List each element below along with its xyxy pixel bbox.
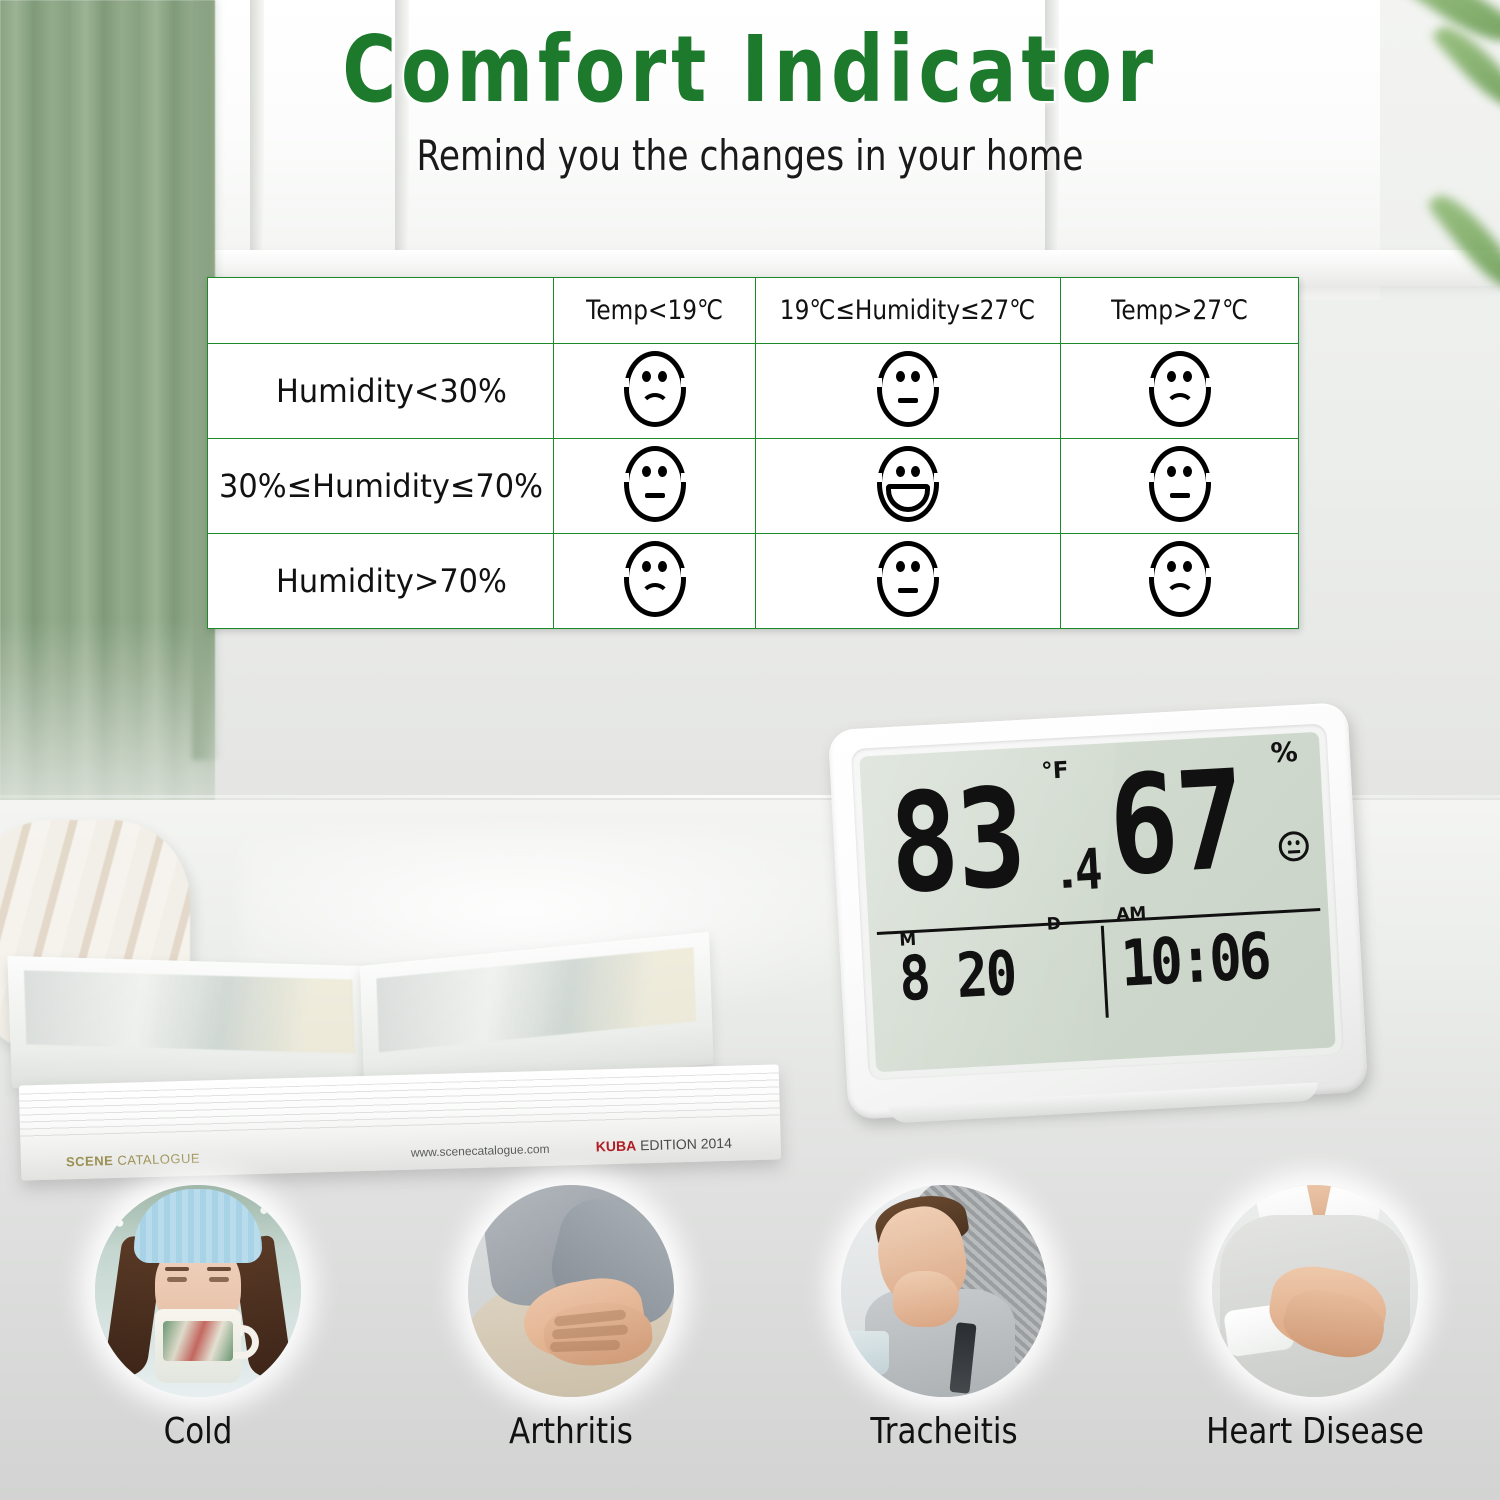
temperature-decimal: 4 — [1073, 836, 1104, 903]
cell-neutral-face — [756, 534, 1061, 629]
tracheitis-photo — [841, 1185, 1047, 1397]
neutral-face-icon — [877, 351, 939, 427]
arthritis-photo — [468, 1185, 674, 1397]
happy-face-icon — [877, 446, 939, 522]
magazine-url: www.scenecatalogue.com — [411, 1142, 550, 1160]
condition-item-tracheitis: Tracheitis — [784, 1185, 1104, 1452]
cell-sad-face — [554, 344, 756, 439]
magazine-photo — [376, 947, 696, 1052]
neutral-face-icon — [877, 541, 939, 617]
heart-disease-photo — [1212, 1185, 1418, 1397]
neutral-face-icon — [1278, 831, 1310, 863]
health-conditions-row: Cold Arthritis — [0, 1185, 1500, 1500]
cell-neutral-face — [1061, 439, 1299, 534]
cell-happy-face — [756, 439, 1061, 534]
date-display: 820 — [898, 939, 1017, 1005]
magazine-photo — [24, 970, 355, 1053]
sad-face-icon — [624, 351, 686, 427]
magazine-edition: KUBA EDITION 2014 — [596, 1135, 733, 1155]
row-header-humidity-high: Humidity>70% — [216, 534, 545, 629]
cell-neutral-face — [756, 344, 1061, 439]
time-display: 10:06 — [1119, 919, 1270, 1001]
table-row: 30%≤Humidity≤70% — [208, 439, 1299, 534]
column-header-temp-high: Temp>27℃ — [1061, 278, 1299, 344]
product-infographic: Comfort Indicator Remind you the changes… — [0, 0, 1500, 1500]
column-header-temp-mid: 19℃≤Humidity≤27℃ — [756, 278, 1061, 344]
row-header-humidity-mid: 30%≤Humidity≤70% — [216, 439, 545, 534]
magazine-page-edges — [19, 1072, 780, 1141]
day-label: D — [1046, 914, 1061, 935]
neutral-face-icon — [1149, 446, 1211, 522]
temperature-unit-label: °F — [1041, 757, 1070, 784]
day-value: 20 — [955, 939, 1017, 1013]
digital-thermometer-hygrometer: 83 °F 4 67 % M D 820 AM 10:06 — [828, 702, 1368, 1120]
table-row: Humidity>70% — [208, 534, 1299, 629]
cell-neutral-face — [554, 439, 756, 534]
condition-caption: Heart Disease — [1177, 1411, 1452, 1452]
month-value: 8 — [898, 943, 933, 1015]
table-header-row: Temp<19℃ 19℃≤Humidity≤27℃ Temp>27℃ — [208, 278, 1299, 344]
comfort-indicator-table: Temp<19℃ 19℃≤Humidity≤27℃ Temp>27℃ Humid… — [207, 277, 1298, 628]
page-subtitle: Remind you the changes in your home — [135, 131, 1365, 180]
sad-face-icon — [1149, 351, 1211, 427]
sad-face-icon — [1149, 541, 1211, 617]
temperature-value: 83 — [886, 770, 1027, 914]
lcd-divider-vertical — [1101, 926, 1108, 1018]
sad-face-icon — [624, 541, 686, 617]
table-row: Humidity<30% — [208, 344, 1299, 439]
condition-caption: Arthritis — [433, 1411, 708, 1452]
cell-sad-face — [1061, 344, 1299, 439]
cell-sad-face — [1061, 534, 1299, 629]
condition-caption: Cold — [60, 1411, 335, 1452]
condition-caption: Tracheitis — [806, 1411, 1081, 1452]
neutral-face-icon — [624, 446, 686, 522]
cell-sad-face — [554, 534, 756, 629]
column-header-temp-low: Temp<19℃ — [554, 278, 756, 344]
condition-item-cold: Cold — [38, 1185, 358, 1452]
humidity-unit-label: % — [1270, 737, 1299, 769]
row-header-humidity-low: Humidity<30% — [216, 344, 545, 439]
decimal-point-icon — [1063, 879, 1071, 887]
lcd-screen: 83 °F 4 67 % M D 820 AM 10:06 — [859, 732, 1335, 1072]
cold-photo — [95, 1185, 301, 1397]
page-title: Comfort Indicator — [150, 20, 1350, 119]
humidity-value: 67 — [1106, 752, 1247, 896]
device-body: 83 °F 4 67 % M D 820 AM 10:06 — [828, 702, 1368, 1120]
magazine-brand: SCENE CATALOGUE — [66, 1151, 201, 1170]
meridiem-label: AM — [1116, 903, 1147, 925]
table-corner-cell — [208, 278, 554, 344]
condition-item-arthritis: Arthritis — [411, 1185, 731, 1452]
header: Comfort Indicator Remind you the changes… — [0, 20, 1500, 180]
condition-item-heart-disease: Heart Disease — [1155, 1185, 1475, 1452]
